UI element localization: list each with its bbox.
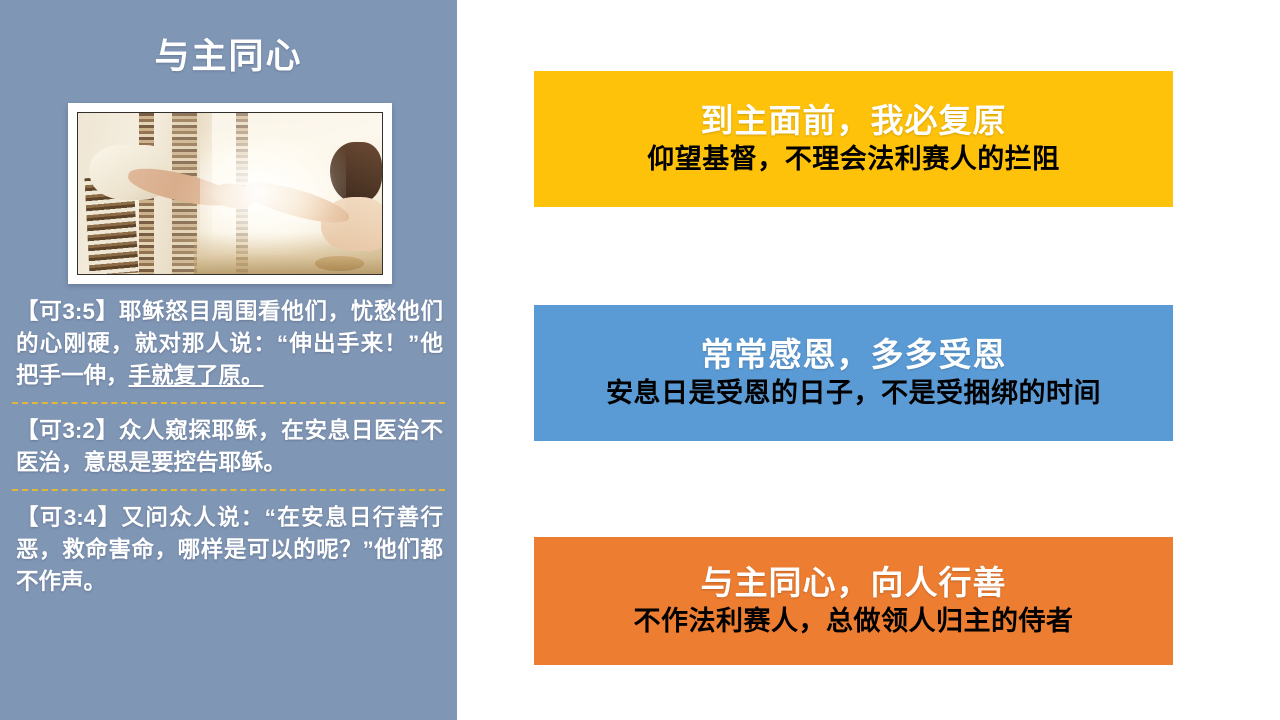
slide-title: 与主同心 bbox=[0, 38, 457, 77]
verse-divider bbox=[12, 402, 445, 404]
verse-text-plain: 【可3:4】又问众人说：“在安息日行善行恶，救命害命，哪样是可以的呢？”他们都不… bbox=[16, 505, 443, 594]
point-title: 与主同心，向人行善 bbox=[701, 563, 1007, 603]
point-box-2: 常常感恩，多多受恩 安息日是受恩的日子，不是受捆绑的时间 bbox=[534, 305, 1173, 441]
sidebar-panel: 与主同心 【可3:5】耶稣怒目周围看他们，忧愁他们的心 bbox=[0, 0, 457, 720]
verse-list: 【可3:5】耶稣怒目周围看他们，忧愁他们的心刚硬，就对那人说：“伸出手来！”他把… bbox=[0, 296, 457, 598]
point-title: 到主面前，我必复原 bbox=[701, 101, 1007, 141]
point-subtitle: 仰望基督，不理会法利赛人的拦阻 bbox=[647, 143, 1060, 177]
verse-text-plain: 【可3:2】众人窥探耶稣，在安息日医治不医治，意思是要控告耶稣。 bbox=[16, 418, 443, 475]
point-box-3: 与主同心，向人行善 不作法利赛人，总做领人归主的侍者 bbox=[534, 537, 1173, 665]
verse-divider bbox=[12, 489, 445, 491]
photo-frame bbox=[68, 103, 392, 284]
verse-block-mark-3-5: 【可3:5】耶稣怒目周围看他们，忧愁他们的心刚硬，就对那人说：“伸出手来！”他把… bbox=[0, 296, 457, 392]
presentation-slide: 与主同心 【可3:5】耶稣怒目周围看他们，忧愁他们的心 bbox=[0, 0, 1280, 720]
verse-block-mark-3-4: 【可3:4】又问众人说：“在安息日行善行恶，救命害命，哪样是可以的呢？”他们都不… bbox=[0, 502, 457, 598]
verse-block-mark-3-2: 【可3:2】众人窥探耶稣，在安息日医治不医治，意思是要控告耶稣。 bbox=[0, 415, 457, 479]
ground-rock-shape bbox=[315, 256, 364, 270]
jesus-clasping-hand-photo bbox=[77, 112, 383, 275]
point-box-1: 到主面前，我必复原 仰望基督，不理会法利赛人的拦阻 bbox=[534, 71, 1173, 207]
point-subtitle: 不作法利赛人，总做领人归主的侍者 bbox=[634, 605, 1074, 639]
point-subtitle: 安息日是受恩的日子，不是受捆绑的时间 bbox=[606, 377, 1101, 411]
head-shape bbox=[330, 142, 382, 203]
point-title: 常常感恩，多多受恩 bbox=[701, 335, 1007, 375]
verse-text-underlined: 手就复了原。 bbox=[129, 363, 264, 388]
